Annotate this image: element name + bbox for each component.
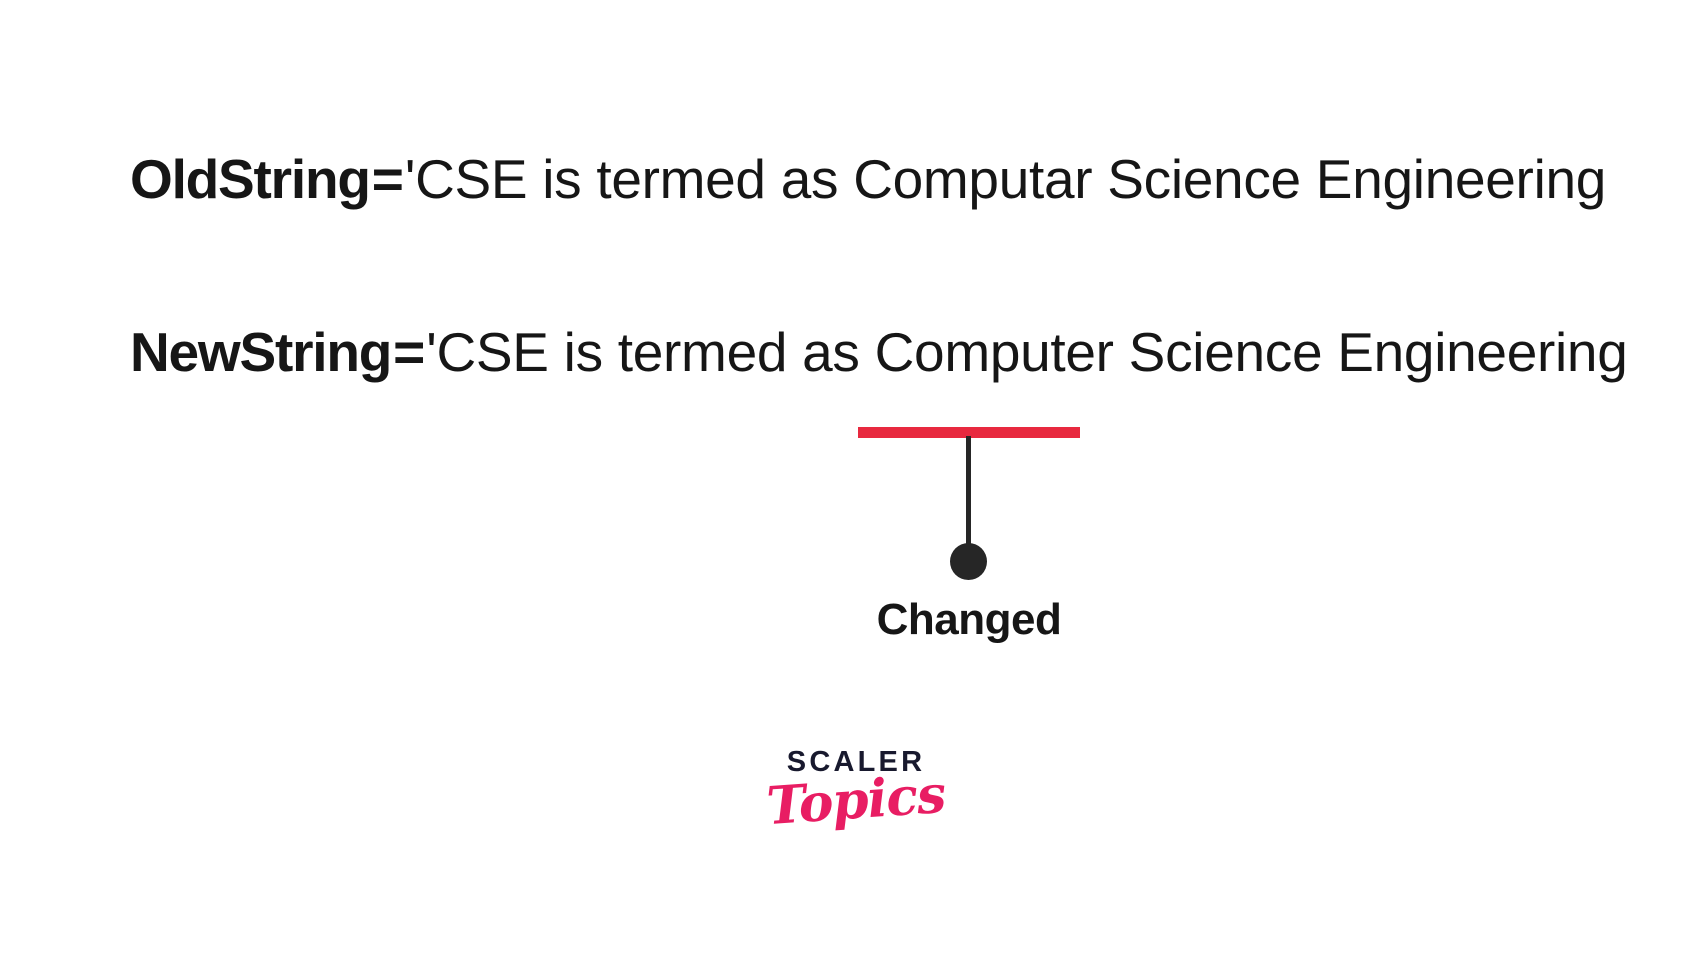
- new-string-variable-name: NewString: [130, 321, 391, 383]
- new-string-corrected-word: Computer: [875, 325, 1114, 380]
- old-string-prefix: CSE is termed as: [415, 148, 853, 210]
- changed-label: Changed: [0, 595, 1701, 645]
- callout-leader-line: [966, 436, 971, 558]
- old-string-quote: ': [405, 148, 415, 210]
- new-string-prefix: CSE is termed as: [437, 321, 875, 383]
- new-string-operator: =: [391, 321, 426, 383]
- new-string-line: NewString='CSE is termed as Computer Sci…: [130, 325, 1628, 380]
- old-string-variable-name: OldString: [130, 148, 370, 210]
- slide-canvas: OldString='CSE is termed as Computar Sci…: [0, 0, 1701, 960]
- new-string-suffix: Science Engineering: [1114, 321, 1628, 383]
- old-string-misspelled-word: Computar: [853, 148, 1092, 210]
- old-string-line: OldString='CSE is termed as Computar Sci…: [130, 152, 1606, 207]
- callout-leader-dot-icon: [950, 543, 987, 580]
- old-string-suffix: Science Engineering: [1092, 148, 1606, 210]
- old-string-operator: =: [370, 148, 405, 210]
- logo-wordmark-topics: Topics: [764, 769, 947, 833]
- red-underline-bar: [858, 427, 1080, 438]
- new-string-quote: ': [426, 321, 436, 383]
- scaler-topics-logo: SCALER Topics: [766, 748, 946, 827]
